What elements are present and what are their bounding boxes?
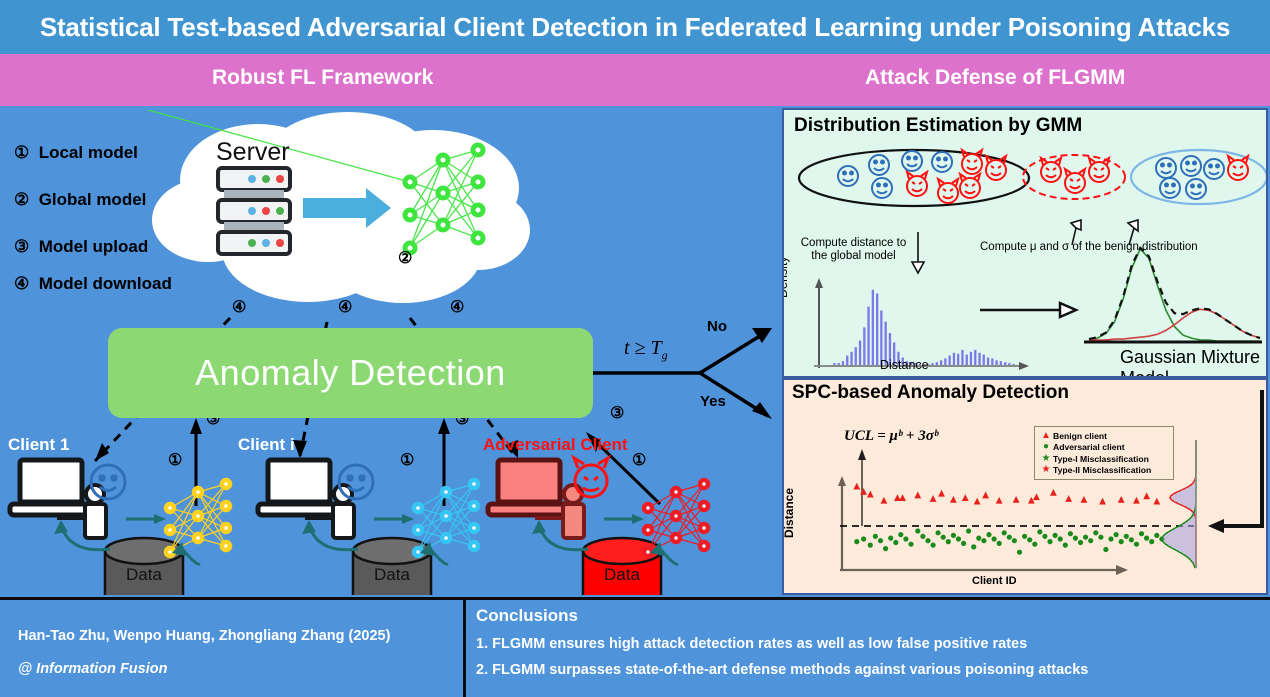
spc-anomaly-detection-panel: SPC-based Anomaly Detection UCL = μᵇ + 3… — [782, 378, 1268, 595]
gmm-curves — [1084, 248, 1262, 342]
mixed-cluster-benign-faces — [838, 151, 952, 198]
legend-marker-4: ④ — [14, 274, 29, 293]
benign-cluster-faces — [1156, 156, 1224, 199]
anomaly-detection-label: Anomaly Detection — [195, 352, 506, 394]
legend-label-3: Model upload — [39, 237, 149, 256]
laptop-icon-3 — [488, 460, 570, 515]
spc-scatter-chart — [784, 380, 1268, 595]
data-label-2: Data — [374, 565, 410, 584]
section-title-left: Robust FL Framework — [212, 66, 433, 90]
legend-marker-2: ② — [14, 190, 29, 209]
data-label-1: Data — [126, 565, 162, 584]
legend-item-model-upload: ③ Model upload — [14, 237, 148, 257]
spc-adversarial-points — [854, 528, 1164, 554]
client-1-group: Data — [10, 460, 230, 595]
histogram-x-axis-label: Distance — [880, 358, 929, 372]
footer-conclusions-block: Conclusions 1. FLGMM ensures high attack… — [466, 597, 1270, 697]
histogram-y-axis-label: Density — [782, 256, 790, 298]
marker-download-1: ④ — [232, 297, 246, 317]
branch-label-no: No — [707, 318, 727, 335]
histogram-bars — [833, 290, 1015, 365]
marker-global-model: ② — [398, 248, 412, 268]
conclusions-title: Conclusions — [476, 606, 1262, 626]
spc-y-axis-label: Distance — [782, 488, 796, 538]
conclusion-item-1: 1. FLGMM ensures high attack detection r… — [476, 636, 1262, 652]
devil-face-icon-3 — [574, 458, 608, 497]
gmm-caption-distance: Compute distance tothe global model — [786, 237, 921, 263]
section-header-bar: Robust FL Framework Attack Defense of FL… — [0, 54, 1270, 106]
legend-marker-1: ① — [14, 143, 29, 162]
marker-upload-3: ③ — [610, 403, 624, 423]
benign-cluster-adversarial-face — [1228, 156, 1248, 180]
adversarial-cluster-faces — [1041, 158, 1109, 193]
smiley-icon-1 — [91, 465, 125, 499]
marginal-density-plot — [1162, 440, 1196, 568]
spc-axes — [838, 449, 1194, 575]
poster-title-bar: Statistical Test-based Adversarial Clien… — [0, 0, 1270, 54]
threshold-condition-text: t ≥ T — [624, 337, 662, 359]
smiley-icon-2 — [339, 465, 373, 499]
laptop-icon-1 — [10, 460, 92, 515]
gaussian-mixture-model-label: Gaussian Mixture Model — [1120, 347, 1266, 378]
authors-line: Han-Tao Zhu, Wenpo Huang, Zhongliang Zha… — [18, 628, 445, 644]
marker-download-2: ④ — [338, 297, 352, 317]
data-label-3: Data — [604, 565, 640, 584]
server-stack-icon — [218, 168, 290, 254]
cloud-server-graphic — [148, 110, 548, 322]
venue-line: @ Information Fusion — [18, 661, 445, 677]
gmm-distribution-panel: Distribution Estimation by GMM — [782, 108, 1268, 378]
legend-marker-3: ③ — [14, 237, 29, 256]
server-label: Server — [216, 138, 290, 167]
client-2-group: Data — [258, 460, 478, 595]
threshold-condition-sub: g — [662, 348, 668, 362]
page-title: Statistical Test-based Adversarial Clien… — [40, 12, 1230, 43]
conclusion-item-2: 2. FLGMM surpasses state-of-the-art defe… — [476, 662, 1262, 678]
footer-authors-block: Han-Tao Zhu, Wenpo Huang, Zhongliang Zha… — [0, 597, 466, 697]
client-3-group: Data — [488, 458, 708, 595]
threshold-condition-label: t ≥ Tg — [624, 337, 668, 363]
spc-benign-points — [853, 483, 1160, 505]
legend-item-local-model: ① Local model — [14, 143, 138, 163]
legend-label-1: Local model — [39, 143, 138, 162]
spc-x-axis-label: Client ID — [972, 575, 1017, 587]
laptop-icon-2 — [258, 460, 340, 515]
section-title-right: Attack Defense of FLGMM — [865, 66, 1125, 90]
gmm-caption-musigma: Compute μ and σ of the benign distributi… — [980, 241, 1198, 254]
gmm-transform-arrow — [980, 303, 1076, 317]
anomaly-detection-box[interactable]: Anomaly Detection — [108, 328, 593, 418]
ucl-pointer-arrow — [1216, 390, 1262, 526]
branch-label-yes: Yes — [700, 393, 726, 410]
marker-download-3: ④ — [450, 297, 464, 317]
legend-item-global-model: ② Global model — [14, 190, 146, 210]
robust-fl-framework-panel: ① Local model ② Global model ③ Model upl… — [0, 106, 778, 595]
legend-label-2: Global model — [39, 190, 147, 209]
clients-row-graphic: Data — [0, 446, 778, 595]
